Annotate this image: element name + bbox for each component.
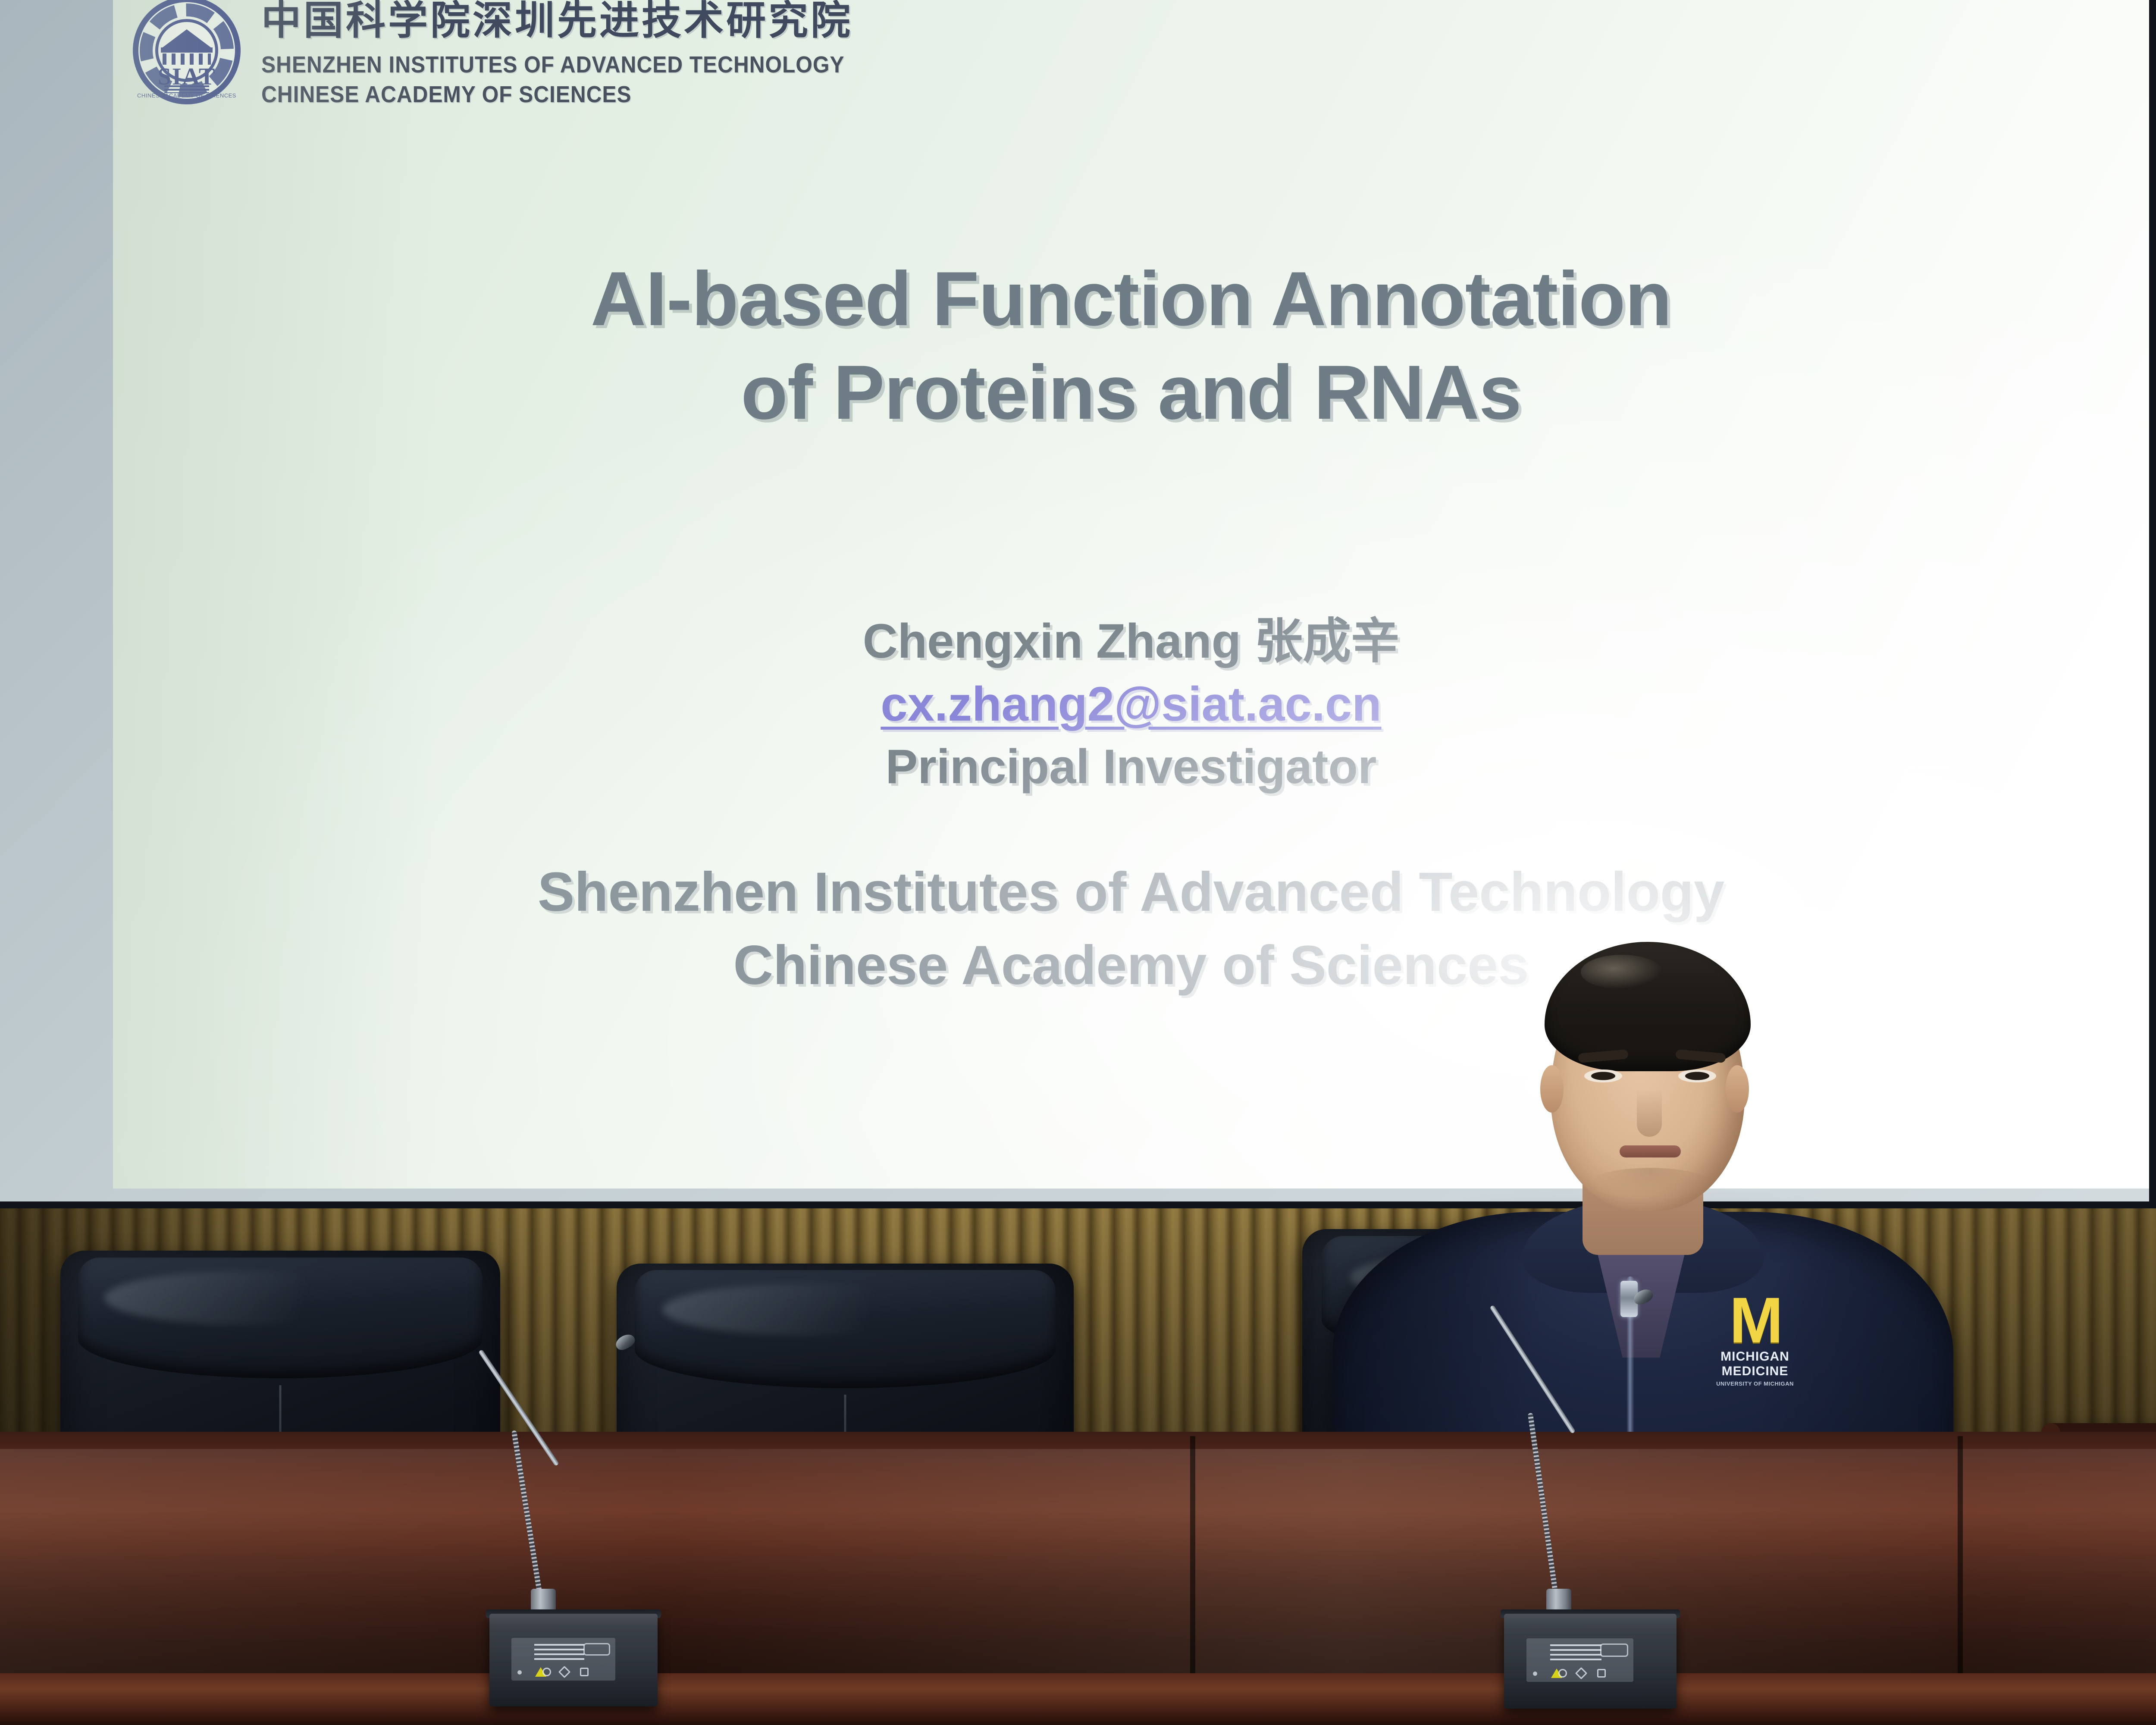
institute-header-text: 中国科学院深圳先进技术研究院 SHENZHEN INSTITUTES OF AD… (261, 0, 895, 110)
microphone-center[interactable] (1504, 1614, 1677, 1709)
ear-right (1726, 1065, 1749, 1113)
table-seam (1190, 1436, 1195, 1678)
chin-shadow (1589, 1168, 1710, 1199)
conference-room-scene: SIAT CHINESE ACADEMY OF SCIENCES 中国科学院深圳… (0, 0, 2156, 1725)
microphone-left[interactable] (489, 1614, 658, 1706)
eye-right (1678, 1069, 1716, 1082)
hourglass-icon (1575, 1667, 1587, 1679)
author-role: Principal Investigator (113, 735, 2149, 798)
slide-header: SIAT CHINESE ACADEMY OF SCIENCES 中国科学院深圳… (133, 0, 895, 110)
michigan-medicine-wordmark: MICHIGAN MEDICINE (1697, 1349, 1813, 1379)
slide-title: AI-based Function Annotation of Proteins… (113, 252, 2149, 439)
mouth (1620, 1145, 1681, 1157)
author-block: Chengxin Zhang 张成辛 cx.zhang2@siat.ac.cn … (113, 610, 2149, 798)
nose (1637, 1089, 1662, 1137)
no-dispose-icon (1558, 1669, 1567, 1678)
recycle-icon (1597, 1669, 1606, 1678)
university-of-michigan-subtext: UNIVERSITY OF MICHIGAN (1697, 1380, 1813, 1387)
eye-left (1584, 1069, 1622, 1082)
institute-name-chinese: 中国科学院深圳先进技术研究院 (261, 1, 895, 41)
slide-title-line2: of Proteins and RNAs (113, 345, 2149, 439)
table-front-rail (0, 1673, 2156, 1725)
michigan-m-icon: M (1697, 1294, 1813, 1347)
table-seam (1958, 1436, 1963, 1678)
siat-seal-icon: SIAT CHINESE ACADEMY OF SCIENCES (133, 0, 241, 104)
no-dispose-icon (542, 1668, 551, 1676)
institute-name-english-line2: CHINESE ACADEMY OF SCIENCES (261, 80, 844, 110)
slide-title-line1: AI-based Function Annotation (591, 256, 1672, 342)
hourglass-icon (558, 1666, 570, 1678)
microphone-label (1526, 1638, 1633, 1682)
author-name: Chengxin Zhang 张成辛 (113, 610, 2149, 673)
microphone-label (511, 1638, 616, 1681)
michigan-medicine-logo: M MICHIGAN MEDICINE UNIVERSITY OF MICHIG… (1697, 1294, 1813, 1389)
recycle-icon (580, 1668, 589, 1676)
affiliation-line1: Shenzhen Institutes of Advanced Technolo… (113, 856, 2149, 929)
hair-highlight (1581, 955, 1663, 989)
seal-micro-text: CHINESE ACADEMY OF SCIENCES (133, 92, 241, 99)
author-email-link[interactable]: cx.zhang2@siat.ac.cn (113, 673, 2149, 736)
ear-left (1540, 1065, 1564, 1113)
institute-name-english-line1: SHENZHEN INSTITUTES OF ADVANCED TECHNOLO… (261, 50, 844, 80)
